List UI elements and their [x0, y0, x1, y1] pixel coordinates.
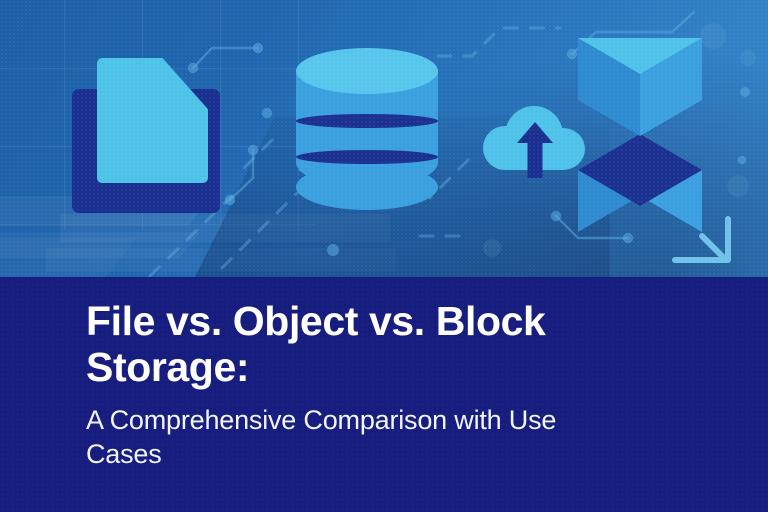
upload-arrow-icon [517, 122, 553, 178]
stacked-blocks-icon [578, 38, 702, 232]
title-content: File vs. Object vs. Block Storage: A Com… [86, 298, 728, 472]
file-document-icon [72, 58, 222, 214]
corner-arrow-bracket-icon [668, 212, 740, 268]
page-subtitle: A Comprehensive Comparison with Use Case… [86, 403, 616, 472]
database-band [296, 150, 438, 164]
block-cube-upper [578, 38, 702, 136]
cloud-upload-icon [483, 106, 587, 178]
title-band: File vs. Object vs. Block Storage: A Com… [0, 277, 768, 512]
hero-illustration [0, 0, 768, 277]
file-icon-page [97, 58, 208, 183]
database-band [296, 114, 438, 128]
database-cylinder-icon [296, 48, 438, 210]
database-top-ellipse [296, 48, 438, 94]
storage-comparison-banner: File vs. Object vs. Block Storage: A Com… [0, 0, 768, 512]
page-title: File vs. Object vs. Block Storage: [86, 298, 651, 391]
circuit-trace-mid-left [230, 150, 253, 200]
